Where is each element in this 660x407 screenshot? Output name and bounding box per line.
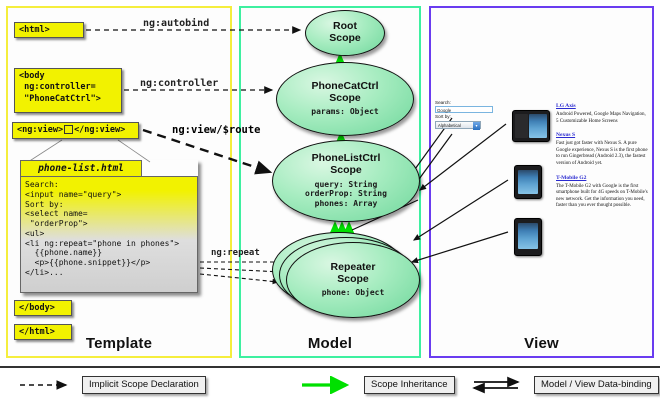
- label-ng-view-route: ng:view/$route: [172, 124, 261, 136]
- sort-select[interactable]: Alphabetical ▾: [435, 121, 481, 129]
- scope-phonecatctrl-props: params: Object: [311, 107, 378, 117]
- html-close-tag: </html>: [14, 324, 72, 340]
- phone-name-link[interactable]: LG Axis: [556, 102, 648, 110]
- diagram-canvas: Template Model View: [0, 0, 660, 405]
- phone-list: LG Axis Android Powered, Google Maps Nav…: [556, 102, 648, 216]
- list-item: T-Mobile G2 The T-Mobile G2 with Google …: [556, 174, 648, 210]
- green-arrow-icon: [300, 376, 358, 394]
- panel-view-label: View: [431, 335, 652, 352]
- phone-snippet: Fast just got faster with Nexus S. A pur…: [556, 141, 648, 167]
- list-item: Nexus S Fast just got faster with Nexus …: [556, 131, 648, 167]
- phone-screen: [529, 114, 547, 138]
- html-open-tag: <html>: [14, 22, 84, 38]
- scope-phonelistctrl: PhoneListCtrlScope query: String orderPr…: [272, 140, 420, 222]
- ngview-open-label: <ng:view>: [17, 125, 63, 135]
- phone-name-link[interactable]: Nexus S: [556, 131, 648, 139]
- scope-root: RootScope: [305, 10, 385, 56]
- legend-item-data-binding: Model / View Data-binding: [470, 376, 659, 394]
- scope-root-title: RootScope: [329, 21, 361, 45]
- dashed-arrow-icon: [18, 376, 76, 394]
- scope-phonecatctrl: PhoneCatCtrlScope params: Object: [276, 62, 414, 136]
- legend: Implicit Scope Declaration Scope Inherit…: [0, 366, 660, 407]
- sort-label: Sort by:: [435, 114, 497, 120]
- double-arrow-icon: [470, 376, 528, 394]
- body-close-tag: </body>: [14, 300, 72, 316]
- legend-label-data-binding: Model / View Data-binding: [534, 376, 659, 394]
- code-card-source: Search: <input name="query"> Sort by: <s…: [20, 176, 198, 293]
- phone-list-code-card: phone-list.html Search: <input name="que…: [20, 160, 198, 293]
- label-ng-controller: ng:controller: [140, 78, 218, 89]
- ngview-placeholder-box: [64, 125, 73, 134]
- scope-repeater-props: phone: Object: [322, 288, 385, 298]
- phone-thumbnail-nexus-s: [514, 165, 542, 199]
- scope-phonecatctrl-title: PhoneCatCtrlScope: [311, 81, 378, 105]
- phone-screen: [518, 223, 538, 249]
- legend-label-implicit-scope: Implicit Scope Declaration: [82, 376, 206, 394]
- phone-screen: [518, 170, 538, 194]
- phone-thumbnail-lg-axis: [512, 110, 550, 142]
- panel-model-label: Model: [241, 335, 419, 352]
- legend-item-scope-inheritance: Scope Inheritance: [300, 376, 455, 394]
- ngview-tag: <ng:view></ng:view>: [12, 122, 139, 139]
- scope-repeater-title: RepeaterScope: [331, 262, 376, 286]
- phone-thumbnail-t-mobile-g2: [514, 218, 542, 256]
- ngview-close-label: </ng:view>: [74, 125, 125, 135]
- phone-snippet: The T-Mobile G2 with Google is the first…: [556, 184, 648, 210]
- phone-snippet: Android Powered, Google Maps Navigation,…: [556, 112, 648, 125]
- legend-label-scope-inheritance: Scope Inheritance: [364, 376, 455, 394]
- phone-keyboard: [515, 114, 528, 138]
- label-ng-autobind: ng:autobind: [143, 18, 209, 29]
- phone-name-link[interactable]: T-Mobile G2: [556, 174, 648, 182]
- scope-phonelistctrl-props: query: String orderProp: String phones: …: [305, 180, 387, 209]
- legend-item-implicit-scope: Implicit Scope Declaration: [18, 376, 206, 394]
- scope-repeater: RepeaterScope phone: Object: [286, 242, 420, 318]
- label-ng-repeat: ng:repeat: [211, 248, 260, 258]
- sort-select-value: Alphabetical: [438, 123, 461, 128]
- search-input[interactable]: Google: [435, 106, 493, 113]
- chevron-down-icon: ▾: [473, 122, 480, 130]
- scope-phonelistctrl-title: PhoneListCtrlScope: [312, 153, 381, 177]
- list-item: LG Axis Android Powered, Google Maps Nav…: [556, 102, 648, 125]
- body-open-tag: <body ng:controller= "PhoneCatCtrl">: [14, 68, 122, 113]
- view-search-form: Search: Google Sort by: Alphabetical ▾: [435, 100, 497, 142]
- code-card-filename: phone-list.html: [20, 160, 142, 177]
